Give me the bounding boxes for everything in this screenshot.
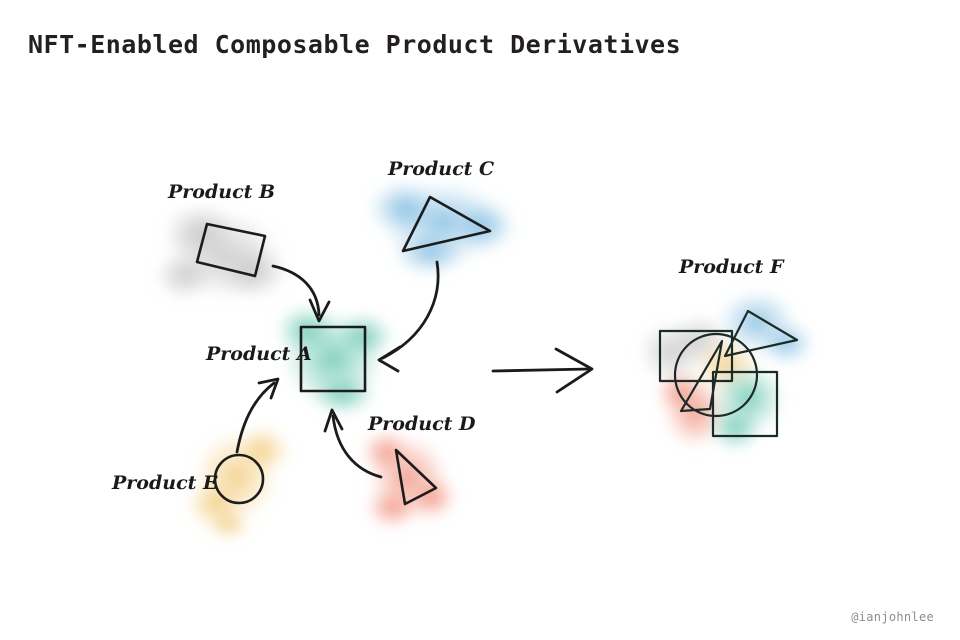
product-c-label: Product C: [387, 158, 494, 180]
product-f-blobs: [638, 288, 816, 452]
author-watermark: @ianjohnlee: [851, 610, 934, 624]
product-d-label: Product D: [367, 413, 476, 435]
edge-a-to-f: [493, 349, 592, 392]
node-product-a[interactable]: Product A: [205, 304, 394, 416]
node-product-c[interactable]: Product C: [366, 158, 518, 278]
product-d-blob: [360, 428, 458, 530]
composition-diagram: Product B Product C Product A: [0, 0, 960, 640]
node-product-e[interactable]: Product E: [111, 424, 292, 542]
node-product-d[interactable]: Product D: [360, 413, 476, 530]
product-a-label: Product A: [205, 343, 312, 365]
product-e-label: Product E: [111, 472, 218, 494]
node-product-b[interactable]: Product B: [154, 181, 289, 300]
product-c-blob: [366, 178, 518, 278]
edge-c-to-a: [379, 262, 438, 371]
node-product-f[interactable]: Product F: [638, 256, 816, 452]
product-b-blob: [154, 202, 289, 300]
diagram-canvas: NFT-Enabled Composable Product Derivativ…: [0, 0, 960, 640]
product-b-label: Product B: [167, 181, 275, 203]
product-f-label: Product F: [678, 256, 785, 278]
